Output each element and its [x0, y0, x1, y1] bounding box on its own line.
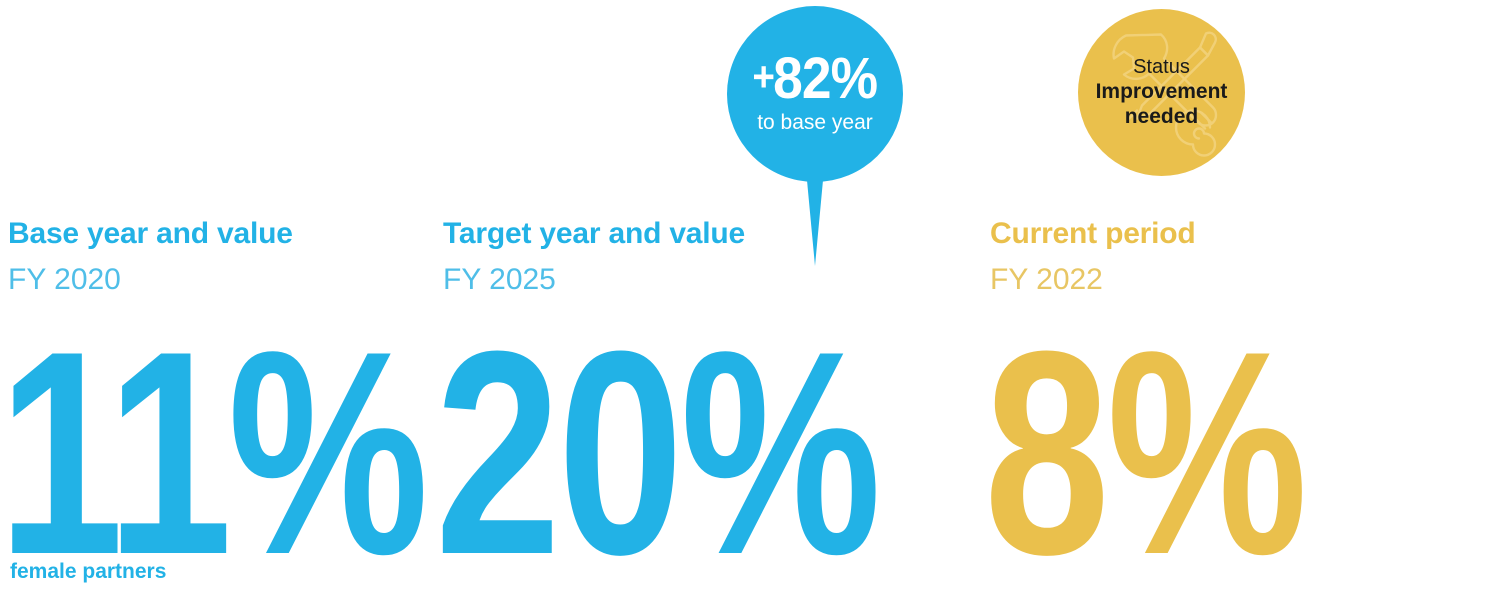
status-value-line2: needed — [1125, 104, 1199, 129]
status-value-line1: Improvement — [1096, 79, 1228, 104]
base-year-caption: female partners — [10, 561, 166, 582]
target-year-value: 20% — [435, 308, 878, 598]
current-period-value: 8% — [984, 308, 1305, 598]
pin-percent-value: 82% — [773, 46, 877, 111]
pin-value: +82% — [753, 51, 878, 106]
base-year-heading: Base year and value — [8, 219, 293, 249]
pin-plus-sign: + — [753, 53, 774, 100]
pin-content: +82% to base year — [727, 6, 903, 182]
current-period-heading: Current period — [990, 219, 1196, 249]
change-to-base-year-pin: +82% to base year — [727, 6, 903, 270]
metric-card-base-year: Base year and value FY 2020 11% female p… — [8, 0, 428, 600]
status-label: Status — [1133, 56, 1190, 79]
base-year-value: 11% — [0, 308, 424, 598]
target-year-heading: Target year and value — [443, 219, 745, 249]
pin-note: to base year — [757, 112, 873, 133]
infographic-stage: Base year and value FY 2020 11% female p… — [0, 0, 1500, 600]
status-badge: Status Improvement needed — [1078, 9, 1245, 176]
status-text-block: Status Improvement needed — [1078, 9, 1245, 176]
